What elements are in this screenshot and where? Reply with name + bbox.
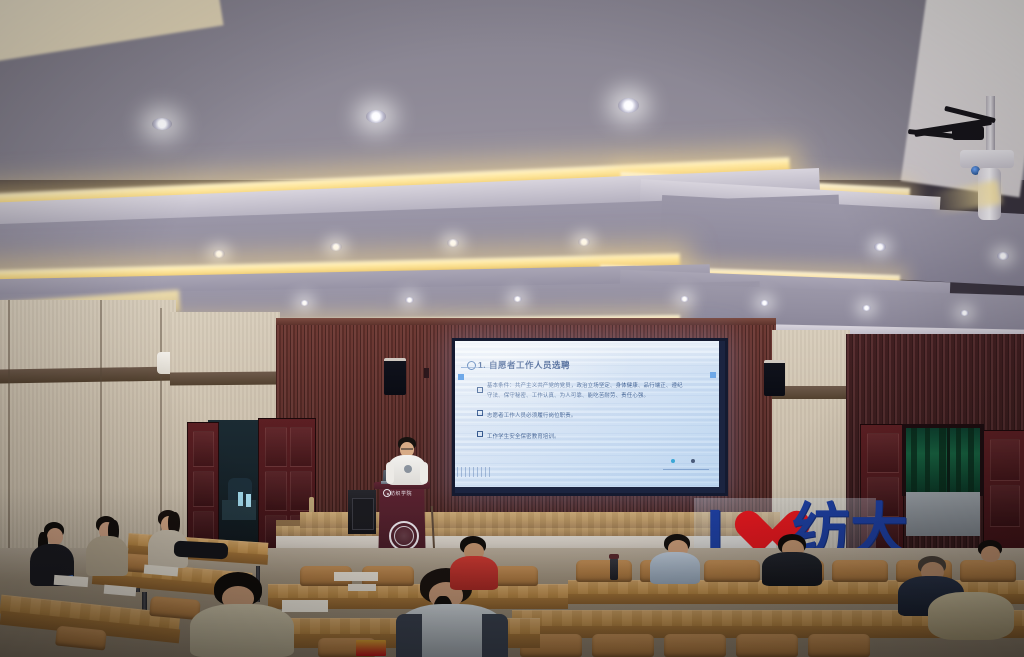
presenter-arm-right	[420, 462, 428, 484]
podium-emblem-icon	[389, 521, 419, 551]
ceiling-downlight	[997, 252, 1009, 260]
ceiling-downlight	[874, 243, 886, 251]
lecture-hall-photo: 1. 自愿者工作人员选聘 基本条件：共产主义共产党的党员，政治立场坚定、身体健康…	[0, 0, 1024, 657]
chair	[736, 634, 798, 657]
thermos-bottle	[610, 558, 618, 580]
chair	[576, 560, 632, 582]
ceiling-downlight	[513, 296, 522, 302]
ceiling-downlight	[405, 297, 414, 303]
projector-bracket-clamp	[952, 126, 984, 140]
screen-glare	[455, 341, 635, 431]
attendee-torso	[650, 552, 700, 584]
inner-room-bottle	[238, 492, 243, 506]
screen-left-marks	[457, 467, 491, 477]
projector-mount-pole	[986, 96, 995, 158]
student-torso	[450, 556, 498, 590]
notebook	[282, 600, 328, 612]
wall-left-accent-band	[170, 372, 280, 386]
attendee-torso	[762, 552, 822, 586]
projector-body	[960, 150, 1014, 168]
chair	[664, 634, 726, 657]
red-booklet	[356, 640, 386, 656]
left-open-door[interactable]	[187, 422, 219, 554]
backpack	[928, 592, 1014, 640]
tree-silhouette	[968, 428, 974, 492]
door-handle[interactable]	[309, 497, 314, 513]
ceiling-downlight	[330, 243, 342, 251]
chair	[832, 560, 888, 582]
student-sleeve	[482, 614, 508, 657]
door-panel	[290, 427, 312, 467]
chair	[592, 634, 654, 657]
slide-footer-rule	[663, 469, 709, 470]
projection-screen[interactable]: 1. 自愿者工作人员选聘 基本条件：共产主义共产党的党员，政治立场坚定、身体健康…	[455, 341, 719, 487]
ceiling-downlight	[618, 98, 639, 113]
ceiling-downlight	[760, 300, 769, 306]
attendee-head	[981, 546, 1000, 562]
podium-logo-small-icon	[383, 489, 391, 497]
wall-stage-top-trim	[276, 318, 776, 325]
door-panel	[990, 439, 1020, 481]
chair	[960, 560, 1016, 582]
presenter-arm-left	[386, 462, 394, 484]
wall-seam	[8, 300, 10, 580]
door-panel	[193, 471, 214, 507]
slide-footer-dot	[691, 459, 695, 463]
presenter-shirt-graphic	[404, 465, 412, 473]
stage-left-speaker	[384, 358, 406, 395]
student-torso	[190, 604, 294, 657]
tree-silhouette	[925, 428, 930, 492]
ceiling-downlight	[578, 238, 590, 246]
window-mullion	[947, 428, 950, 492]
tree-silhouette	[939, 428, 946, 492]
door-panel	[867, 433, 899, 473]
tree-silhouette	[956, 428, 961, 492]
stage-equipment-rack	[352, 498, 374, 530]
door-panel	[265, 471, 287, 511]
inner-room-bottle	[246, 494, 251, 507]
door-panel	[193, 431, 214, 467]
ceiling-downlight	[213, 250, 225, 258]
stage-right-speaker	[764, 360, 785, 396]
podium-brand-text: 纺织学院	[390, 490, 412, 497]
tree-silhouette	[911, 428, 917, 492]
radiator-unit	[906, 492, 980, 536]
ceiling-downlight	[366, 110, 386, 123]
notebook	[334, 572, 378, 581]
black-bag	[174, 541, 229, 560]
projection-screen-frame: 1. 自愿者工作人员选聘 基本条件：共产主义共产党的党员，政治立场坚定、身体健康…	[452, 338, 728, 496]
notebook	[348, 584, 376, 591]
screen-corner-mark	[710, 372, 716, 378]
door-panel	[265, 427, 287, 467]
ceiling-downlight	[300, 300, 309, 306]
student-torso	[86, 536, 128, 576]
right-window-glass	[906, 428, 980, 492]
wall-cable-hook	[424, 368, 429, 378]
ceiling-downlight	[447, 239, 459, 247]
ceiling-downlight	[152, 118, 172, 130]
ceiling-downlight	[862, 305, 871, 311]
thermos-cap	[609, 554, 619, 559]
chair	[808, 634, 870, 657]
door-panel	[990, 485, 1020, 527]
student-sleeve	[396, 614, 422, 657]
chair	[704, 560, 760, 582]
ceiling-downlight	[680, 296, 689, 302]
student-head	[47, 528, 63, 545]
slide-footer-dot	[671, 459, 675, 463]
ceiling-downlight	[960, 310, 969, 316]
presenter-glasses-icon	[401, 448, 413, 450]
screen-corner-mark	[458, 374, 464, 380]
